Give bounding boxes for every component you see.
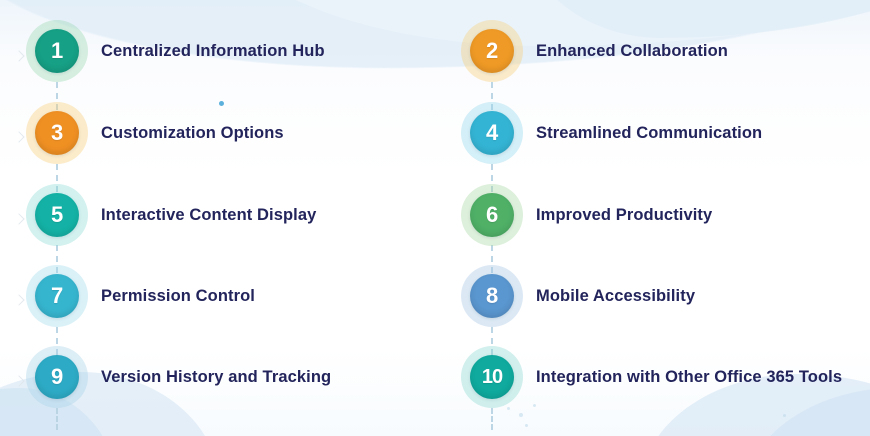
infographic-canvas: 1 Centralized Information Hub 3 Customiz…	[0, 0, 870, 436]
step-number: 2	[486, 40, 498, 62]
left-column: 1 Centralized Information Hub 3 Customiz…	[0, 0, 435, 436]
step-label: Interactive Content Display	[101, 206, 316, 225]
step-label: Improved Productivity	[536, 206, 712, 225]
badge-core: 4	[470, 111, 514, 155]
step-item[interactable]: 3 Customization Options	[31, 102, 284, 164]
step-label: Permission Control	[101, 287, 255, 306]
connector-line	[491, 408, 495, 430]
step-item[interactable]: 5 Interactive Content Display	[31, 184, 316, 246]
step-number-badge: 7	[31, 270, 83, 322]
step-label: Integration with Other Office 365 Tools	[536, 368, 842, 387]
step-number: 7	[51, 285, 63, 307]
step-number-badge: 6	[466, 189, 518, 241]
connector-line	[56, 408, 60, 430]
badge-core: 2	[470, 29, 514, 73]
step-label: Centralized Information Hub	[101, 42, 325, 61]
step-number-badge: 1	[31, 25, 83, 77]
badge-core: 1	[35, 29, 79, 73]
step-number: 9	[51, 366, 63, 388]
badge-core: 9	[35, 355, 79, 399]
step-number-badge: 8	[466, 270, 518, 322]
badge-core: 3	[35, 111, 79, 155]
badge-core: 7	[35, 274, 79, 318]
step-label: Customization Options	[101, 124, 284, 143]
step-item[interactable]: 4 Streamlined Communication	[466, 102, 762, 164]
step-item[interactable]: 10 Integration with Other Office 365 Too…	[466, 346, 842, 408]
step-number-badge: 9	[31, 351, 83, 403]
step-number: 8	[486, 285, 498, 307]
step-item[interactable]: 6 Improved Productivity	[466, 184, 712, 246]
badge-core: 10	[470, 355, 514, 399]
step-label: Streamlined Communication	[536, 124, 762, 143]
step-label: Version History and Tracking	[101, 368, 331, 387]
step-number-badge: 10	[466, 351, 518, 403]
step-number: 5	[51, 204, 63, 226]
step-label: Enhanced Collaboration	[536, 42, 728, 61]
right-column: 2 Enhanced Collaboration 4 Streamlined C…	[435, 0, 870, 436]
step-item[interactable]: 9 Version History and Tracking	[31, 346, 331, 408]
step-number-badge: 4	[466, 107, 518, 159]
step-number: 3	[51, 122, 63, 144]
step-item[interactable]: 2 Enhanced Collaboration	[466, 20, 728, 82]
badge-core: 5	[35, 193, 79, 237]
step-number: 1	[51, 40, 63, 62]
step-number: 6	[486, 204, 498, 226]
steps-columns: 1 Centralized Information Hub 3 Customiz…	[0, 0, 870, 436]
step-number: 10	[482, 367, 502, 387]
step-label: Mobile Accessibility	[536, 287, 695, 306]
step-number: 4	[486, 122, 498, 144]
badge-core: 6	[470, 193, 514, 237]
badge-core: 8	[470, 274, 514, 318]
step-number-badge: 2	[466, 25, 518, 77]
step-number-badge: 3	[31, 107, 83, 159]
step-item[interactable]: 1 Centralized Information Hub	[31, 20, 325, 82]
step-number-badge: 5	[31, 189, 83, 241]
step-item[interactable]: 7 Permission Control	[31, 265, 255, 327]
step-item[interactable]: 8 Mobile Accessibility	[466, 265, 695, 327]
